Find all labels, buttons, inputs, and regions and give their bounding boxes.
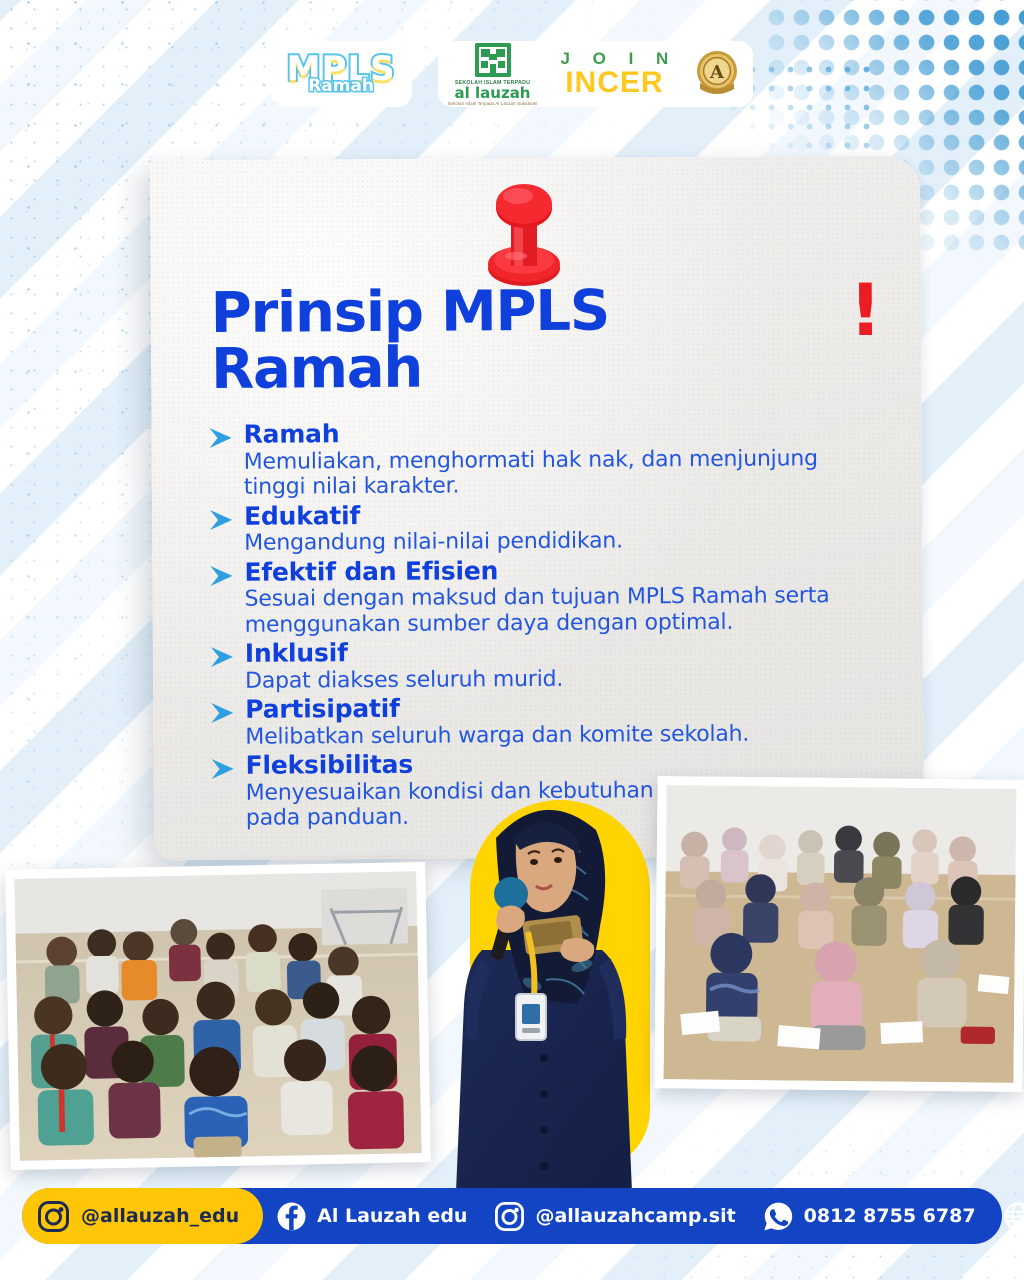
footer-item-whatsapp[interactable]: 0812 8755 6787 (750, 1202, 990, 1231)
join-incer-logo: J O I N INCER (551, 50, 677, 98)
join-incer-main-text: INCER (565, 68, 663, 98)
list-item: Ramah Memuliakan, menghormati hak nak, d… (207, 416, 881, 501)
al-lauzah-name: al lauzah (455, 86, 531, 101)
principle-description: Dapat diakses seluruh murid. (245, 664, 883, 693)
footer-item-facebook[interactable]: Al Lauzah edu (263, 1202, 481, 1231)
instagram-icon (38, 1201, 69, 1232)
principle-term: Efektif dan Efisien (244, 553, 882, 586)
chevron-right-icon (207, 427, 233, 449)
list-item-body: Inklusif Dapat diakses seluruh murid. (245, 635, 883, 694)
photo-speaker-cutout (424, 782, 664, 1192)
footer-label-instagram-camp: @allauzahcamp.sit (535, 1205, 735, 1227)
al-lauzah-tagline: Sekolah Islam Terpadu Al Lauzah Sukabumi (448, 101, 538, 106)
principle-description: Mengandung nilai-nilai pendidikan. (244, 527, 882, 556)
logo-strip: MPLS Ramah SEKOLAH ISLAM TERPADU al lauz… (0, 34, 1024, 114)
photo-boys-seated-image (14, 871, 421, 1161)
list-item-body: Efektif dan Efisien Sesuai dengan maksud… (244, 553, 882, 637)
al-lauzah-logo: SEKOLAH ISLAM TERPADU al lauzah Sekolah … (448, 42, 538, 106)
principles-list: Ramah Memuliakan, menghormati hak nak, d… (207, 416, 884, 832)
instagram-icon (495, 1202, 524, 1231)
join-incer-join-text: J O I N (551, 50, 677, 67)
principle-term: Ramah (243, 416, 881, 449)
partner-logos-pill: SEKOLAH ISLAM TERPADU al lauzah Sekolah … (438, 41, 754, 107)
photo-girls-activity (654, 776, 1024, 1092)
chevron-right-icon (209, 702, 235, 724)
page-title-text: Prinsip MPLS Ramah (211, 282, 836, 398)
principle-description: Memuliakan, menghormati hak nak, dan men… (244, 445, 882, 500)
footer-contact-bar: @allauzah_edu Al Lauzah edu @allauzahcam… (22, 1188, 1002, 1244)
poster-canvas: MPLS Ramah SEKOLAH ISLAM TERPADU al lauz… (0, 0, 1024, 1280)
globe-icon (1004, 1202, 1024, 1231)
principle-term: Partisipatif (245, 691, 883, 724)
list-item: Partisipatif Melibatkan seluruh warga da… (209, 691, 883, 750)
footer-label-whatsapp: 0812 8755 6787 (804, 1205, 976, 1227)
principle-term: Inklusif (245, 635, 883, 668)
chevron-right-icon (208, 508, 234, 530)
footer-item-primary[interactable]: @allauzah_edu (22, 1188, 263, 1244)
chevron-right-icon (210, 758, 236, 780)
list-item-body: Edukatif Mengandung nilai-nilai pendidik… (244, 497, 882, 556)
principle-description: Sesuai dengan maksud dan tujuan MPLS Ram… (244, 583, 882, 638)
footer-label-instagram-primary: @allauzah_edu (81, 1205, 239, 1227)
list-item: Efektif dan Efisien Sesuai dengan maksud… (208, 553, 882, 638)
whatsapp-icon (764, 1202, 793, 1231)
accreditation-a-badge: A (691, 48, 743, 100)
footer-item-instagram-camp[interactable]: @allauzahcamp.sit (481, 1202, 749, 1231)
facebook-icon (277, 1202, 306, 1231)
principle-term: Fleksibilitas (245, 747, 883, 780)
footer-item-website[interactable]: allauzah.sch.id (990, 1202, 1024, 1231)
footer-label-facebook: Al Lauzah edu (317, 1205, 467, 1227)
principle-term: Edukatif (244, 497, 882, 530)
red-pushpin-icon (478, 168, 570, 288)
chevron-right-icon (209, 646, 235, 668)
chevron-right-icon (208, 564, 234, 586)
mpls-ramah-logo: MPLS Ramah (271, 41, 412, 107)
exclamation-mark: ! (849, 282, 881, 338)
list-item: Edukatif Mengandung nilai-nilai pendidik… (208, 497, 882, 556)
list-item-body: Partisipatif Melibatkan seluruh warga da… (245, 691, 883, 750)
al-lauzah-mosque-icon (473, 42, 513, 78)
principle-description: Melibatkan seluruh warga dan komite seko… (245, 720, 883, 749)
list-item-body: Ramah Memuliakan, menghormati hak nak, d… (243, 416, 881, 500)
mpls-logo-sub-text: Ramah (308, 79, 374, 94)
list-item: Inklusif Dapat diakses seluruh murid. (209, 635, 883, 694)
photo-boys-seated (5, 862, 431, 1170)
page-title: Prinsip MPLS Ramah ! (211, 282, 882, 398)
photo-girls-activity-image (663, 785, 1016, 1083)
svg-text:A: A (709, 62, 725, 83)
mpls-logo-mark: MPLS Ramah (281, 52, 402, 96)
